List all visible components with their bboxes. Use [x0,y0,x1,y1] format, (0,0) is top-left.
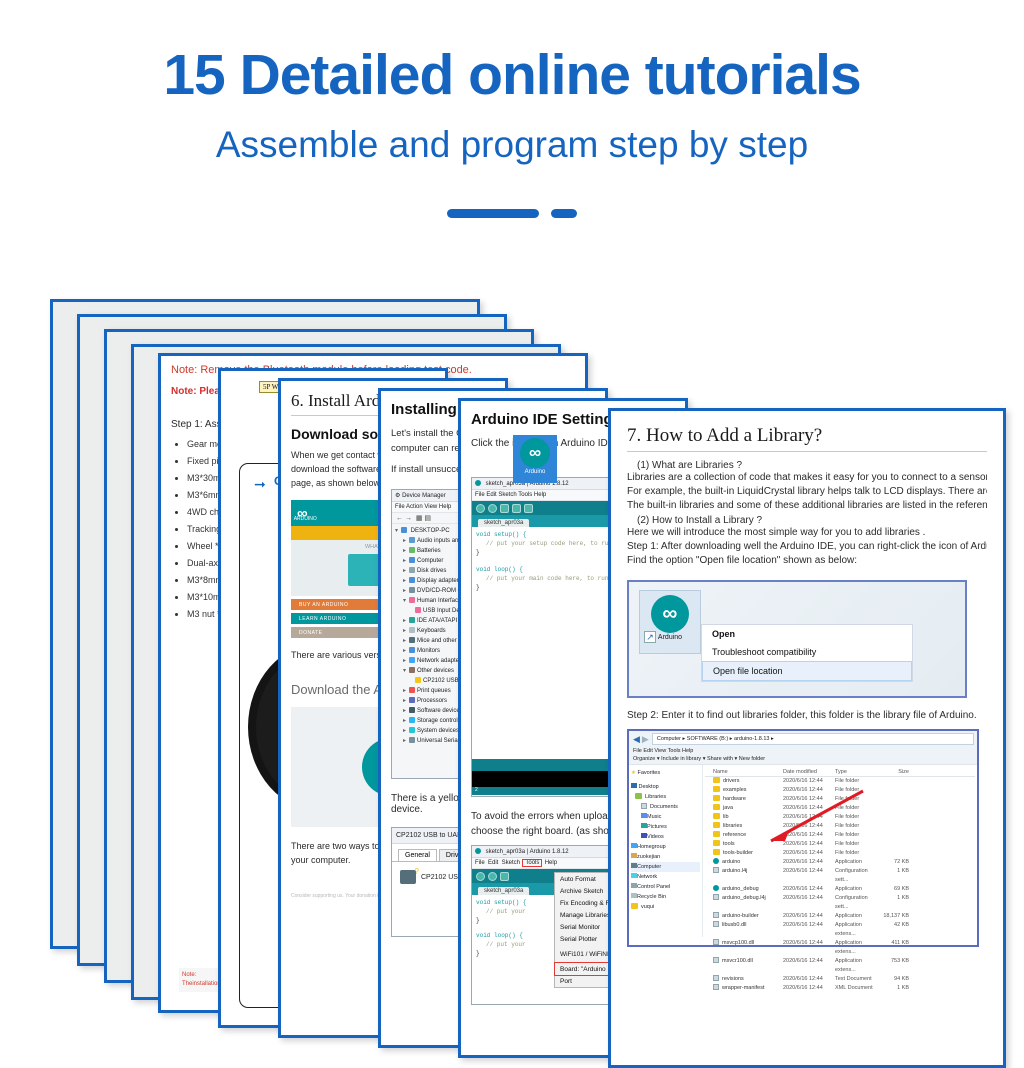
cell-size: 411 KB [881,939,909,957]
cell-name: arduino.l4j [705,867,783,885]
cell-size [881,831,909,840]
cell-size [881,849,909,858]
arduino-app-icon [475,848,481,854]
cell-size [881,795,909,804]
cell-size: 94 KB [881,975,909,984]
file-icon [713,912,719,918]
cell-name: revisions [705,975,783,984]
library-q2: (2) How to Install a Library ? [627,515,987,526]
library-heading: 7. How to Add a Library? [627,425,987,452]
sidebar-item-music[interactable]: Music [631,812,700,822]
cell-date: 2020/6/16 12:44 [783,894,835,912]
sidebar-item-pictures[interactable]: Pictures [631,822,700,832]
table-row[interactable]: arduino_debug.l4j2020/6/16 12:44Configur… [705,894,975,912]
cell-type: Text Document [835,975,881,984]
folder-icon [713,831,720,837]
file-icon [713,894,719,900]
explorer-header: ◀ ▶ Computer ▸ SOFTWARE (B:) ▸ arduino-1… [629,731,977,765]
tab-general[interactable]: General [398,849,437,861]
context-menu-item-open-file-location[interactable]: Open file location [702,661,912,681]
folder-icon [713,786,720,792]
folder-icon [713,849,720,855]
cell-name: arduino-builder [705,912,783,921]
divider-bar-long [447,209,539,218]
cell-type: File folder [835,777,881,786]
sidebar-item-control-panel[interactable]: Control Panel [631,882,700,892]
sidebar-item-favorites[interactable]: ★ Favorites [631,768,700,778]
arduino-app-icon [475,480,481,486]
application-icon [713,885,719,891]
explorer-sidebar[interactable]: ★ Favorites Desktop Libraries Documents … [629,765,703,937]
upload-icon[interactable] [488,504,497,513]
context-menu-item-troubleshoot[interactable]: Troubleshoot compatibility [702,643,912,661]
save-sketch-icon[interactable] [524,504,533,513]
sidebar-item-recycle-bin[interactable]: Recycle Bin [631,892,700,902]
cell-size [881,822,909,831]
promo-banner: 15 Detailed online tutorials Assemble an… [0,0,1024,250]
cell-type: Configuration sett... [835,867,881,885]
cell-size [881,813,909,822]
folder-icon [713,840,720,846]
cell-date: 2020/6/16 12:44 [783,921,835,939]
library-line-4: Here we will introduce the most simple w… [627,526,987,540]
cell-date: 2020/6/16 12:44 [783,777,835,786]
sidebar-item-videos[interactable]: Videos [631,832,700,842]
cell-size [881,777,909,786]
page-subtitle: Assemble and program step by step [0,124,1024,166]
cell-date: 2020/6/16 12:44 [783,975,835,984]
sidebar-item-computer[interactable]: Computer [631,862,700,872]
code-comment-loop: // put your [486,941,526,948]
cell-name: libusb0.dll [705,921,783,939]
cell-name: arduino_debug [705,885,783,894]
forward-icon[interactable]: ▶ [642,734,649,745]
table-row[interactable]: drivers2020/6/16 12:44File folder [705,777,975,786]
file-icon [713,939,719,945]
cell-date: 2020/6/16 12:44 [783,984,835,993]
table-row[interactable]: arduino_debug2020/6/16 12:44Application6… [705,885,975,894]
file-icon [713,867,719,873]
cell-size [881,804,909,813]
library-step-2: Step 2: Enter it to find out libraries f… [627,710,987,721]
cell-type: Application [835,885,881,894]
folder-icon [713,804,720,810]
code-comment-setup: // put your [486,908,526,915]
device-manager-title: Device Manager [402,493,446,499]
library-line-3: The built-in libraries and some of these… [627,499,987,513]
cell-size [881,786,909,795]
upload-icon[interactable] [488,872,497,881]
cell-date: 2020/6/16 12:44 [783,858,835,867]
arduino-desktop-icon[interactable]: ∞ ↗ Arduino [639,590,701,654]
arduino-logo-icon: ∞ [520,438,550,468]
folder-icon [713,795,720,801]
cell-type: Application extens... [835,957,881,975]
cell-name: wrapper-manifest [705,984,783,993]
cell-date: 2020/6/16 12:44 [783,939,835,957]
cell-size: 1 KB [881,867,909,885]
device-warning-icon: ? [400,870,416,884]
file-icon [713,921,719,927]
explorer-file-list[interactable]: Name Date modified Type Size drivers2020… [703,765,977,937]
folder-icon [713,813,720,819]
table-row[interactable]: msvcp100.dll2020/6/16 12:44Application e… [705,939,975,957]
cell-size: 753 KB [881,957,909,975]
cell-size [881,840,909,849]
file-icon [713,984,719,990]
library-step-1: Step 1: After downloading well the Ardui… [627,540,987,554]
file-icon [713,957,719,963]
sidebar-item-homegroup[interactable]: Homegroup [631,842,700,852]
table-row[interactable]: msvcr100.dll2020/6/16 12:44Application e… [705,957,975,975]
cell-type: File folder [835,849,881,858]
shortcut-overlay-icon: ↗ [644,631,656,643]
sidebar-item-documents[interactable]: Documents [631,802,700,812]
cell-name: drivers [705,777,783,786]
table-row[interactable]: libusb0.dll2020/6/16 12:44Application ex… [705,921,975,939]
address-bar[interactable]: Computer ▸ SOFTWARE (B:) ▸ arduino-1.8.1… [652,733,974,745]
cell-type: XML Document [835,984,881,993]
arduino-desktop-icon[interactable]: ∞ Arduino [513,435,557,483]
cell-name: tools-builder [705,849,783,858]
library-q1: (1) What are Libraries ? [627,460,987,471]
cell-name: arduino [705,858,783,867]
cell-date: 2020/6/16 12:44 [783,912,835,921]
back-icon[interactable]: ◀ [633,734,640,745]
table-row[interactable]: arduino-builder2020/6/16 12:44Applicatio… [705,912,975,921]
desktop-context-menu-screenshot[interactable]: ∞ ↗ Arduino Open Troubleshoot compatibil… [627,580,967,698]
verify-icon[interactable] [476,504,485,513]
cell-type: Application [835,858,881,867]
table-row[interactable]: arduino2020/6/16 12:44Application72 KB [705,858,975,867]
context-menu-item-open[interactable]: Open [702,625,912,643]
folder-icon [713,777,720,783]
code-line-setup: void setup() { [476,531,526,538]
cell-type: Application extens... [835,939,881,957]
arduino-icon-label: Arduino [513,469,557,475]
sidebar-item-libraries[interactable]: Libraries [631,792,700,802]
explorer-toolbar[interactable]: Organize ▾ Include in library ▾ Share wi… [629,755,977,765]
cell-date: 2020/6/16 12:44 [783,867,835,885]
table-row[interactable]: tools-builder2020/6/16 12:44File folder [705,849,975,858]
explorer-menubar[interactable]: File Edit View Tools Help [629,747,977,755]
tutorial-page-stack: Note: Remove the Bluetooth module before… [0,250,1024,1024]
cell-size: 1 KB [881,894,909,912]
device-manager-icon: ⚙ [395,493,400,499]
red-arrow-annotation [755,787,865,849]
verify-icon[interactable] [476,872,485,881]
cell-date: 2020/6/16 12:44 [783,849,835,858]
cell-name: msvcr100.dll [705,957,783,975]
cell-size: 18,137 KB [881,912,909,921]
file-icon [713,975,719,981]
sidebar-item-network[interactable]: Network [631,872,700,882]
arduino-logo-icon: ∞ [651,595,689,633]
code-line-setup: void setup() { [476,899,526,906]
new-sketch-icon[interactable] [500,872,509,881]
library-line-6: Find the option "Open file location" sho… [627,554,987,568]
cell-type: Configuration sett... [835,894,881,912]
explorer-column-headers[interactable]: Name Date modified Type Size [705,768,975,777]
menu-tools[interactable]: Tools [523,860,541,866]
cell-date: 2020/6/16 12:44 [783,885,835,894]
cell-name: msvcp100.dll [705,939,783,957]
new-sketch-icon[interactable] [500,504,509,513]
tab-sketch[interactable]: sketch_apr03a [478,519,529,527]
tutorial-page-add-library[interactable]: 7. How to Add a Library? (1) What are Li… [608,408,1006,1068]
chevron-down-icon: ➞ [254,476,266,493]
table-row[interactable]: revisions2020/6/16 12:44Text Document94 … [705,975,975,984]
decorative-divider [0,208,1024,218]
cell-size: 1 KB [881,984,909,993]
application-icon [713,858,719,864]
desktop-context-menu[interactable]: Open Troubleshoot compatibility Open fil… [701,624,913,682]
open-sketch-icon[interactable] [512,504,521,513]
divider-bar-short [551,209,577,218]
table-row[interactable]: arduino.l4j2020/6/16 12:44Configuration … [705,867,975,885]
sidebar-item-desktop[interactable]: Desktop [631,782,700,792]
cell-size: 69 KB [881,885,909,894]
library-line-2: For example, the built-in LiquidCrystal … [627,485,987,499]
sidebar-item-extra[interactable]: vuqui [631,902,700,912]
folder-icon [713,822,720,828]
file-explorer-screenshot[interactable]: ◀ ▶ Computer ▸ SOFTWARE (B:) ▸ arduino-1… [627,729,979,947]
page-title: 15 Detailed online tutorials [0,42,1024,108]
cell-date: 2020/6/16 12:44 [783,957,835,975]
code-line-loop: void loop() { [476,566,523,573]
cell-size: 42 KB [881,921,909,939]
table-row[interactable]: wrapper-manifest2020/6/16 12:44XML Docum… [705,984,975,993]
arduino-brand-label: ARDUINO [294,516,317,522]
sidebar-item-user[interactable]: zuokejian [631,852,700,862]
cell-name: arduino_debug.l4j [705,894,783,912]
cell-type: Application [835,912,881,921]
cell-type: Application extens... [835,921,881,939]
library-line-1: Libraries are a collection of code that … [627,471,987,485]
tab-sketch[interactable]: sketch_apr03a [478,887,529,895]
cell-size: 72 KB [881,858,909,867]
code-line-loop: void loop() { [476,932,523,939]
